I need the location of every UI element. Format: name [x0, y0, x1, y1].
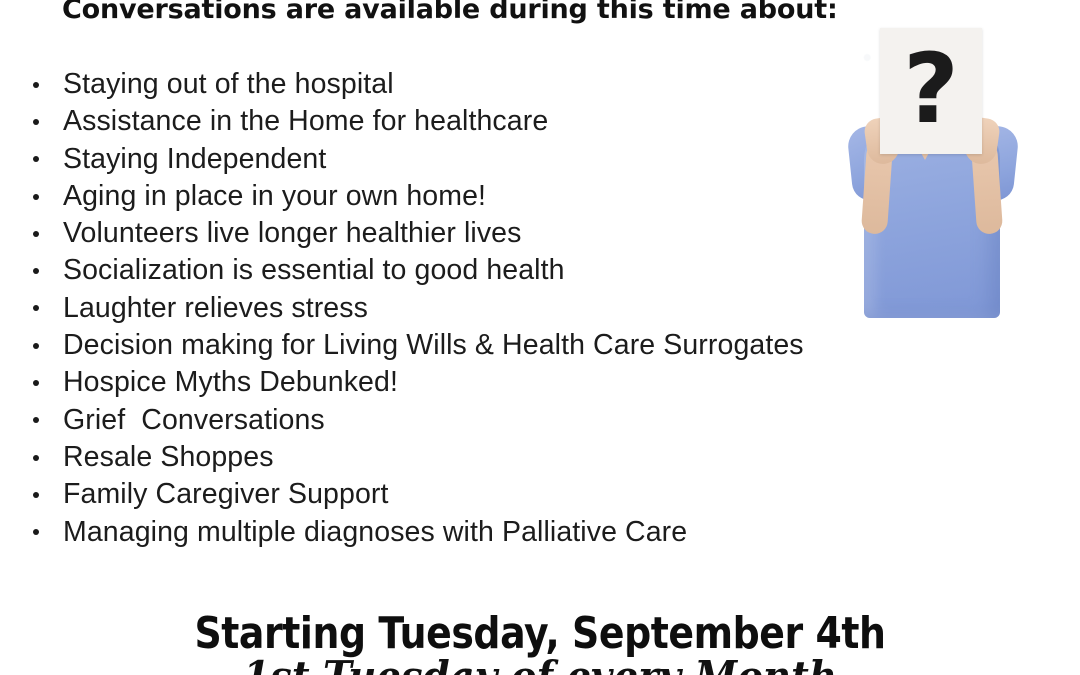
- list-item: Volunteers live longer healthier lives: [0, 215, 840, 252]
- list-item: Staying out of the hospital: [0, 66, 840, 103]
- list-item: Assistance in the Home for healthcare: [0, 103, 840, 140]
- list-item: Resale Shoppes: [0, 439, 840, 476]
- question-mark-icon: ?: [903, 41, 959, 137]
- topics-list: Staying out of the hospital Assistance i…: [0, 66, 840, 551]
- list-item: Decision making for Living Wills & Healt…: [0, 327, 840, 364]
- question-card: ?: [880, 28, 982, 154]
- question-mark-photo: ?: [842, 22, 1022, 318]
- list-item: Hospice Myths Debunked!: [0, 364, 840, 401]
- list-item: Grief Conversations: [0, 402, 840, 439]
- recurrence-heading: 1st Tuesday of every Month: [43, 652, 1037, 675]
- page-title: Conversations are available during this …: [62, 0, 838, 25]
- list-item: Staying Independent: [0, 141, 840, 178]
- list-item: Family Caregiver Support: [0, 476, 840, 513]
- list-item: Socialization is essential to good healt…: [0, 252, 840, 289]
- list-item: Laughter relieves stress: [0, 290, 840, 327]
- flyer-page: Conversations are available during this …: [0, 0, 1080, 675]
- list-item: Aging in place in your own home!: [0, 178, 840, 215]
- list-item: Managing multiple diagnoses with Palliat…: [0, 514, 840, 551]
